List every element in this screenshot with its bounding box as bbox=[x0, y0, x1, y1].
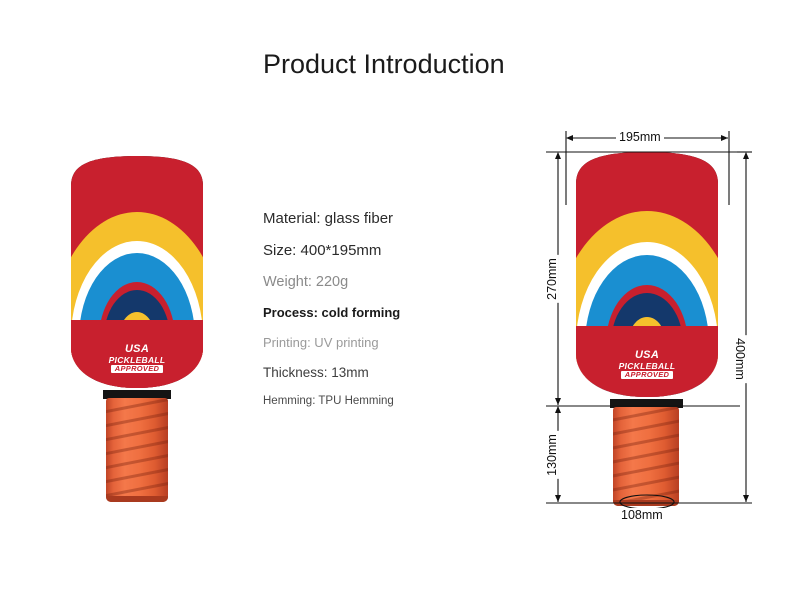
spec-row-hemming: Hemming: TPU Hemming bbox=[263, 395, 483, 407]
dimension-label-grip-height: 130mm bbox=[545, 431, 559, 479]
badge-line-usa: USA bbox=[93, 344, 181, 356]
spec-text: Printing: UV printing bbox=[263, 335, 379, 350]
badge-line-usa: USA bbox=[600, 350, 694, 362]
spec-row-size: Size: 400*195mm bbox=[263, 242, 483, 259]
spec-row-thickness: Thickness: 13mm bbox=[263, 365, 483, 380]
spec-row-process: Process: cold forming bbox=[263, 305, 483, 320]
specification-list: Material: glass fiber Size: 400*195mm We… bbox=[263, 210, 483, 407]
paddle-product-photo: USA PICKLEBALL APPROVED bbox=[59, 152, 215, 502]
dimension-label-face-height: 270mm bbox=[545, 255, 559, 303]
spec-text: Hemming: TPU Hemming bbox=[263, 395, 394, 407]
dimension-label-butt-girth: 108mm bbox=[618, 508, 666, 522]
spec-text: Material: glass fiber bbox=[263, 210, 393, 227]
badge-line-pickleball: PICKLEBALL bbox=[93, 356, 181, 365]
spec-row-weight: Weight: 220g bbox=[263, 274, 483, 290]
spec-text: Weight: 220g bbox=[263, 274, 348, 290]
spec-row-printing: Printing: UV printing bbox=[263, 335, 483, 350]
dimension-label-total-height: 400mm bbox=[733, 335, 747, 383]
badge-line-pickleball: PICKLEBALL bbox=[600, 362, 694, 371]
dimension-label-width: 195mm bbox=[616, 130, 664, 144]
badge-line-approved: APPROVED bbox=[621, 371, 674, 379]
paddle-grip-right bbox=[613, 407, 679, 506]
paddle-grip-left bbox=[106, 398, 168, 502]
page-title: Product Introduction bbox=[263, 48, 513, 81]
badge-line-approved: APPROVED bbox=[111, 365, 164, 373]
spec-row-material: Material: glass fiber bbox=[263, 210, 483, 227]
paddle-dimension-drawing: USA PICKLEBALL APPROVED bbox=[563, 148, 731, 506]
spec-text: Process: cold forming bbox=[263, 305, 400, 320]
spec-text: Size: 400*195mm bbox=[263, 242, 381, 259]
spec-text: Thickness: 13mm bbox=[263, 365, 369, 380]
usa-approval-badge-right: USA PICKLEBALL APPROVED bbox=[600, 350, 694, 380]
usa-approval-badge: USA PICKLEBALL APPROVED bbox=[93, 344, 181, 374]
